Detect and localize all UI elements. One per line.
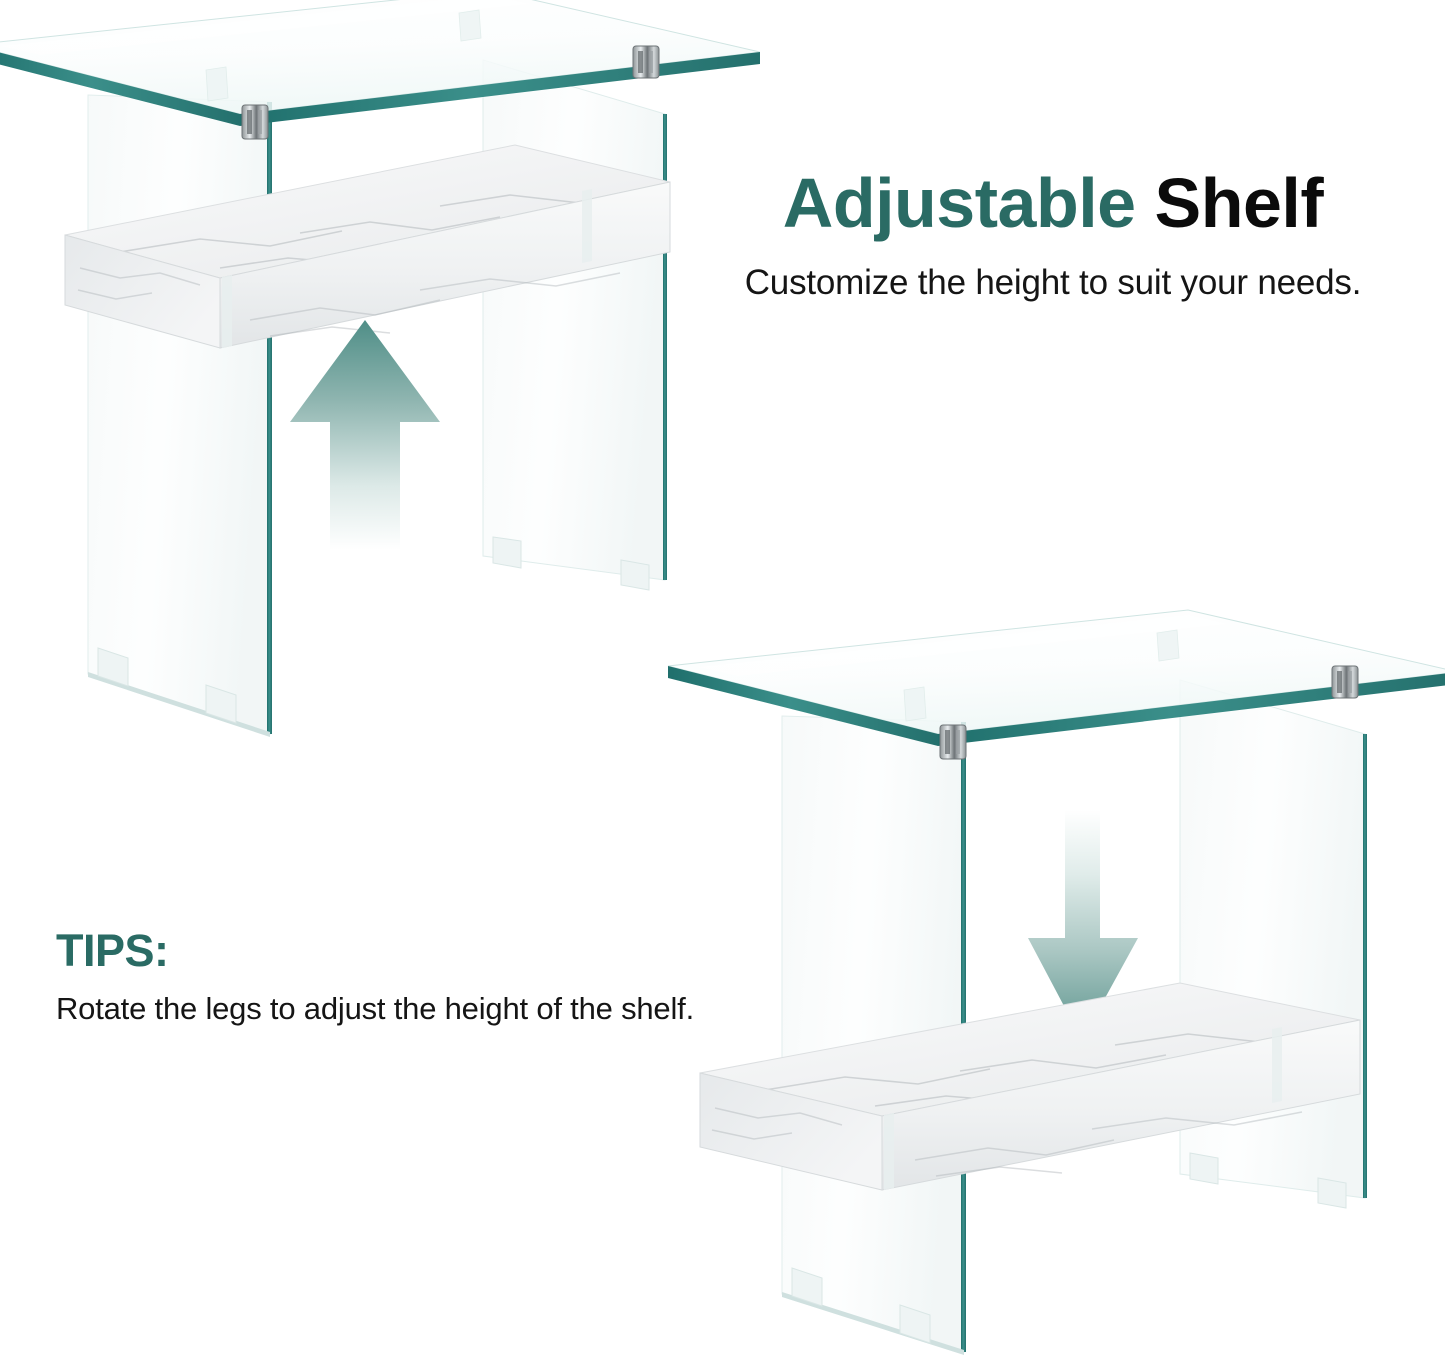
tips-heading: TIPS: bbox=[56, 928, 816, 973]
page-title: Adjustable Shelf bbox=[688, 168, 1418, 239]
vertical-glass-side-panel-front bbox=[88, 95, 272, 737]
console-table-shelf-raised bbox=[0, 0, 760, 770]
page-subtitle: Customize the height to suit your needs. bbox=[688, 263, 1418, 303]
vertical-glass-side-panel-rear bbox=[1180, 680, 1367, 1208]
page-title-accent: Adjustable bbox=[783, 164, 1136, 242]
infographic-canvas: Adjustable Shelf Customize the height to… bbox=[0, 0, 1445, 1361]
chrome-bracket-clamp-rear bbox=[1332, 666, 1358, 698]
tips-body: Rotate the legs to adjust the height of … bbox=[56, 991, 816, 1027]
page-title-rest: Shelf bbox=[1136, 164, 1324, 242]
chrome-bracket-clamp-front bbox=[940, 725, 966, 759]
arrow-up-icon bbox=[290, 320, 440, 550]
chrome-bracket-clamp-front bbox=[242, 105, 268, 139]
vertical-glass-side-panel-rear bbox=[483, 60, 667, 590]
headline-block: Adjustable Shelf Customize the height to… bbox=[688, 168, 1418, 303]
chrome-bracket-clamp-rear bbox=[633, 46, 659, 78]
tips-block: TIPS: Rotate the legs to adjust the heig… bbox=[56, 928, 816, 1027]
